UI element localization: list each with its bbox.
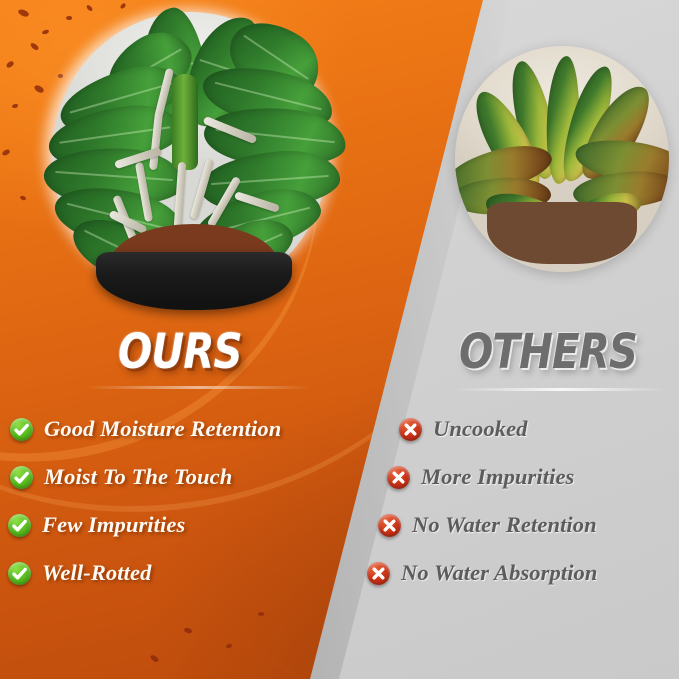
list-item: No Water Retention: [378, 501, 679, 549]
list-item-label: Moist To The Touch: [44, 464, 232, 490]
list-item: No Water Absorption: [367, 549, 679, 597]
list-item-label: Good Moisture Retention: [44, 416, 281, 442]
healthy-orchid-scene: [52, 12, 328, 298]
list-item-label: No Water Retention: [412, 512, 597, 538]
ours-product-photo: [8, 0, 360, 324]
x-circle-icon: [399, 418, 422, 441]
check-circle-icon: [10, 418, 33, 441]
orchid-stem: [172, 74, 198, 170]
x-circle-icon: [367, 562, 390, 585]
others-heading: OTHERS: [459, 324, 637, 380]
list-item-label: More Impurities: [421, 464, 574, 490]
ours-feature-list: Good Moisture Retention Moist To The Tou…: [0, 405, 400, 597]
unhealthy-plant-scene: [455, 46, 669, 272]
list-item: Few Impurities: [0, 501, 400, 549]
x-circle-icon: [387, 466, 410, 489]
list-item: Uncooked: [380, 405, 679, 453]
black-plant-pot: [96, 252, 292, 310]
list-item: More Impurities: [380, 453, 679, 501]
check-circle-icon: [10, 466, 33, 489]
check-circle-icon: [8, 562, 31, 585]
list-item: Moist To The Touch: [0, 453, 400, 501]
comparison-infographic: OURS OTHERS Good Moisture Retention Mois…: [0, 0, 679, 679]
others-product-photo: [455, 46, 669, 272]
soil-growing-medium: [487, 202, 637, 264]
list-item: Well-Rotted: [0, 549, 400, 597]
list-item-label: Few Impurities: [42, 512, 185, 538]
others-feature-list: Uncooked More Impurities No Water Retent…: [380, 405, 679, 597]
list-item-label: No Water Absorption: [401, 560, 598, 586]
list-item-label: Uncooked: [433, 416, 528, 442]
ours-heading: OURS: [118, 324, 242, 380]
check-circle-icon: [8, 514, 31, 537]
list-item-label: Well-Rotted: [42, 560, 151, 586]
x-circle-icon: [378, 514, 401, 537]
list-item: Good Moisture Retention: [0, 405, 400, 453]
